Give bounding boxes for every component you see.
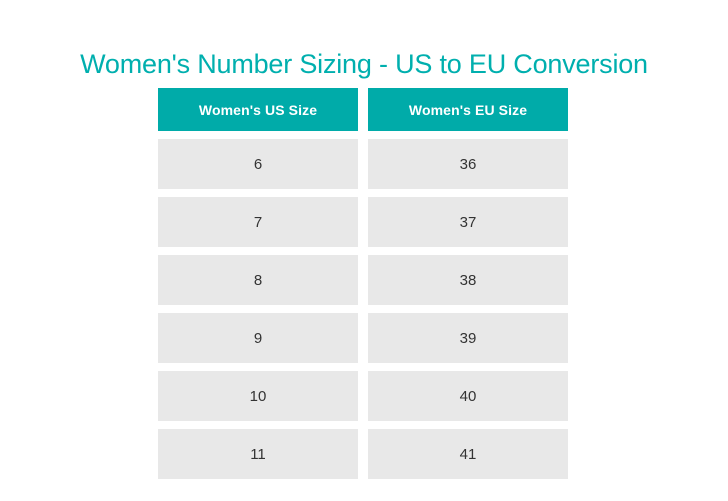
table-row: 6 36 <box>158 139 568 189</box>
sizing-conversion-table: Women's US Size Women's EU Size 6 36 7 3… <box>148 80 578 487</box>
table-row: 10 40 <box>158 371 568 421</box>
table-row: 11 41 <box>158 429 568 479</box>
cell-eu-size: 41 <box>368 429 568 479</box>
cell-eu-size: 36 <box>368 139 568 189</box>
table-row: 8 38 <box>158 255 568 305</box>
sizing-conversion-page: Women's Number Sizing - US to EU Convers… <box>0 0 728 501</box>
cell-eu-size: 37 <box>368 197 568 247</box>
table-body: 6 36 7 37 8 38 9 39 10 40 <box>158 139 568 479</box>
cell-us-size: 6 <box>158 139 358 189</box>
table-header: Women's US Size Women's EU Size <box>158 88 568 131</box>
cell-eu-size: 38 <box>368 255 568 305</box>
column-header-eu-size: Women's EU Size <box>368 88 568 131</box>
cell-us-size: 9 <box>158 313 358 363</box>
cell-us-size: 11 <box>158 429 358 479</box>
column-header-us-size: Women's US Size <box>158 88 358 131</box>
table-header-row: Women's US Size Women's EU Size <box>158 88 568 131</box>
cell-us-size: 8 <box>158 255 358 305</box>
cell-us-size: 10 <box>158 371 358 421</box>
cell-us-size: 7 <box>158 197 358 247</box>
sizing-table-container: Women's US Size Women's EU Size 6 36 7 3… <box>158 88 568 479</box>
cell-eu-size: 40 <box>368 371 568 421</box>
page-title: Women's Number Sizing - US to EU Convers… <box>0 47 728 81</box>
table-row: 7 37 <box>158 197 568 247</box>
table-row: 9 39 <box>158 313 568 363</box>
cell-eu-size: 39 <box>368 313 568 363</box>
